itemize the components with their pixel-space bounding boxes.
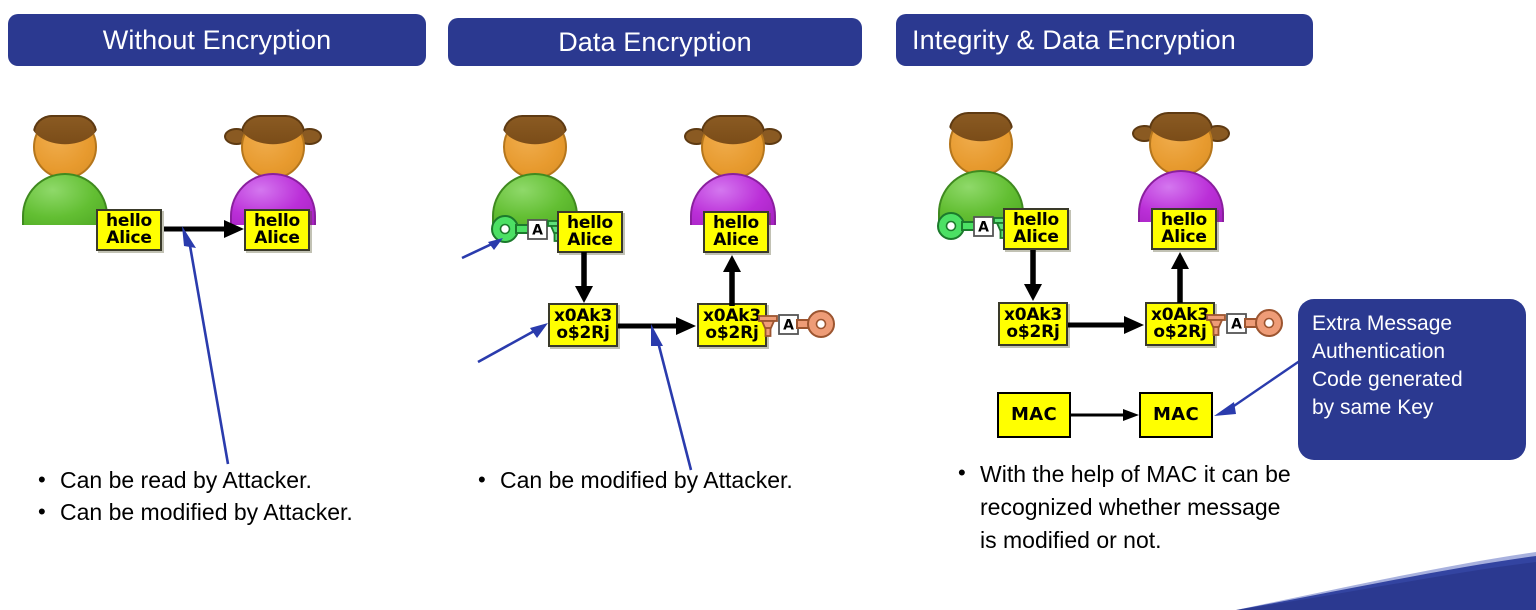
mac-label: MAC [1153,406,1199,424]
callout-extra-mac: Extra Message Authentication Code genera… [1298,299,1526,460]
decryption-key-widget-panel3: A [1205,306,1283,340]
decrypt-funnel-icon [759,316,777,336]
plaintext-line2: Alice [254,230,299,247]
panel-header-label: Without Encryption [103,25,331,56]
key-icon [938,213,976,239]
callout-line-1: Extra Message [1312,310,1514,338]
bullet-text: Can be modified by Attacker. [500,465,793,497]
decrypt-arrow-panel2 [721,254,743,306]
decorative-swoosh [1236,538,1536,610]
bullets-panel1: • Can be read by Attacker. • Can be modi… [30,465,430,528]
svg-text:A: A [1231,317,1242,333]
bullets-panel2: • Can be modified by Attacker. [470,465,800,497]
annotation-arrow-ciphertext-panel2 [478,320,550,364]
plaintext-box-receiver-panel1: hello Alice [244,209,310,251]
decrypt-funnel-icon [1207,315,1225,335]
mac-label: MAC [1011,406,1057,424]
plaintext-box-sender-panel2: hello Alice [557,211,623,253]
bullet-text: Can be read by Attacker. [60,465,312,497]
bullet-text: Can be modified by Attacker. [60,497,353,529]
mac-transmit-arrow-panel3 [1071,407,1141,423]
panel-header-label: Integrity & Data Encryption [912,25,1236,56]
plaintext-box-receiver-panel2: hello Alice [703,211,769,253]
key-label-badge: A [974,217,993,236]
callout-line-2: Authentication [1312,338,1514,366]
panel-header-integrity-data-encryption: Integrity & Data Encryption [896,14,1313,66]
slide-canvas: Without Encryption Data Encryption Integ… [0,0,1536,610]
encrypt-arrow-panel3 [1022,250,1044,302]
plaintext-line2: Alice [1161,229,1206,246]
encrypt-arrow-panel2 [573,252,595,304]
bullet-marker: • [470,465,500,495]
bullet-item: • Can be read by Attacker. [30,465,430,497]
panel-header-label: Data Encryption [558,27,752,58]
annotation-arrow-panel1 [180,226,240,466]
ciphertext-box-sender-panel3: x0Ak3 o$2Rj [998,302,1068,346]
callout-line-4: by same Key [1312,394,1514,422]
bullet-marker: • [30,465,60,495]
verify-arrow-panel3 [1169,251,1191,303]
key-label-badge: A [779,315,798,334]
key-label-badge: A [1227,314,1246,333]
receiver-avatar-panel2 [690,115,776,225]
ciphertext-line2: o$2Rj [556,325,609,342]
plaintext-box-sender-panel1: hello Alice [96,209,162,251]
ciphertext-line2: o$2Rj [705,325,758,342]
bullet-item: • Can be modified by Attacker. [30,497,430,529]
panel-header-without-encryption: Without Encryption [8,14,426,66]
plaintext-line2: Alice [567,232,612,249]
plaintext-line2: Alice [106,230,151,247]
bullet-marker: • [30,497,60,527]
callout-line-3: Code generated [1312,366,1514,394]
svg-text:A: A [978,220,989,236]
ciphertext-box-sender-panel2: x0Ak3 o$2Rj [548,303,618,347]
key-icon [1245,310,1282,336]
annotation-arrow-transmit-panel2 [645,322,701,472]
key-icon [797,311,834,337]
key-label-badge: A [528,220,547,239]
plaintext-line2: Alice [1013,229,1058,246]
bullet-marker: • [950,458,980,488]
annotation-arrow-callout-panel3 [1210,356,1306,418]
bullet-item: • Can be modified by Attacker. [470,465,800,497]
mac-box-receiver-panel3: MAC [1139,392,1213,438]
sender-avatar-panel2 [492,115,578,225]
ciphertext-line2: o$2Rj [1153,324,1206,341]
svg-text:A: A [532,223,543,239]
plaintext-box-receiver-panel3: hello Alice [1151,208,1217,250]
annotation-arrow-key-panel2 [462,236,504,260]
ciphertext-line2: o$2Rj [1006,324,1059,341]
decryption-key-widget-panel2: A [757,307,835,341]
sender-avatar-panel3 [938,112,1024,222]
mac-box-sender-panel3: MAC [997,392,1071,438]
transmit-arrow-panel3 [1068,314,1146,336]
receiver-avatar-panel3 [1138,112,1224,222]
svg-text:A: A [783,318,794,334]
panel-header-data-encryption: Data Encryption [448,18,862,66]
plaintext-box-sender-panel3: hello Alice [1003,208,1069,250]
plaintext-line2: Alice [713,232,758,249]
